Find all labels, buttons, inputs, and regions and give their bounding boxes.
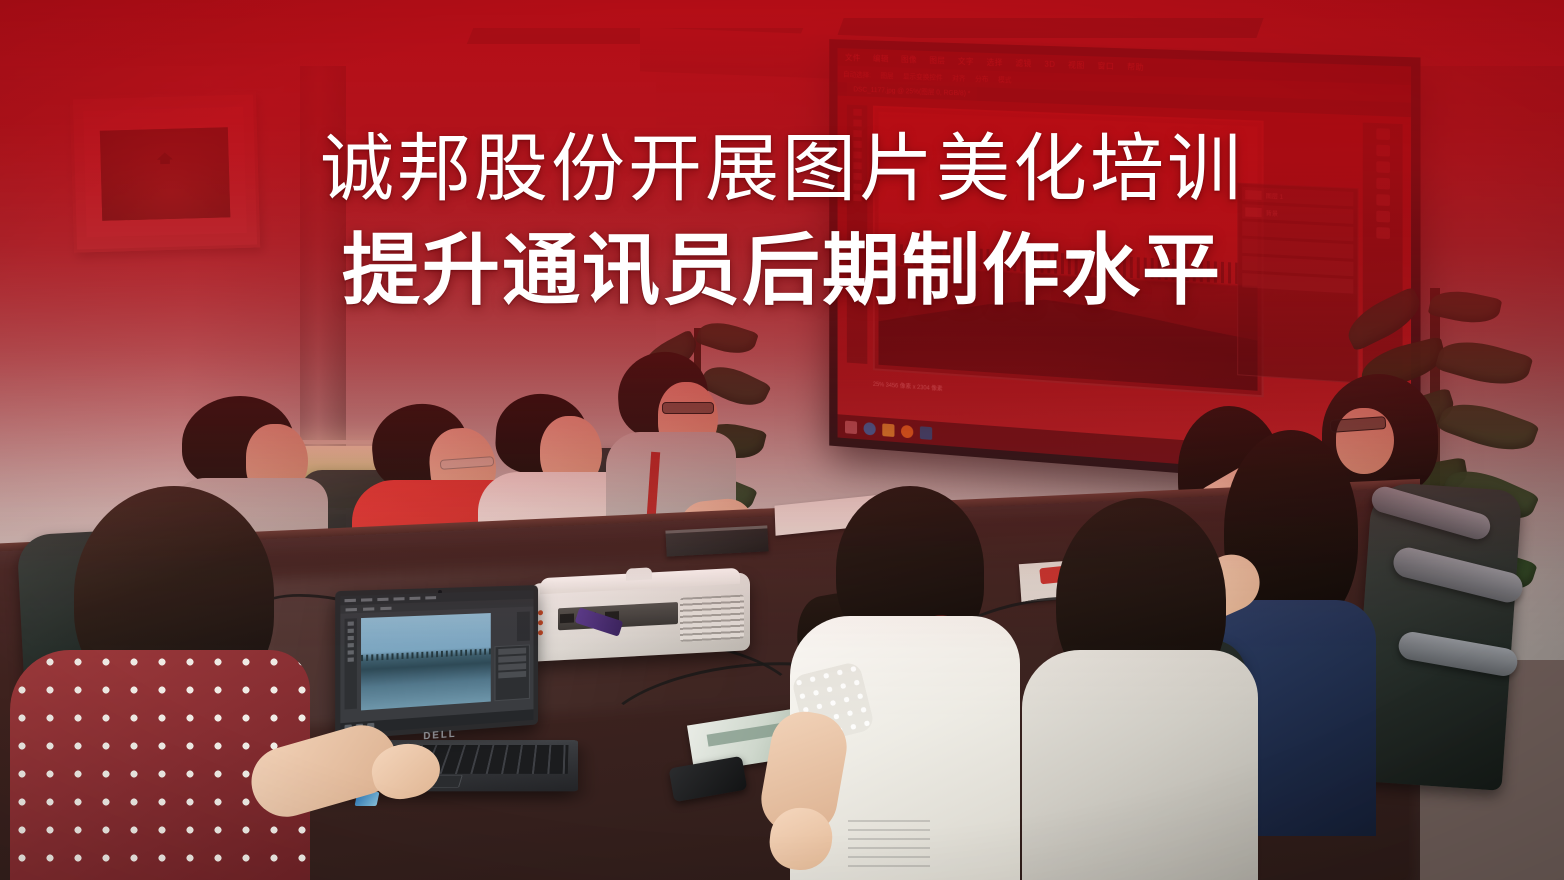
photo-treeline [893, 244, 1242, 284]
properties-panel-icon[interactable] [1376, 194, 1390, 206]
start-icon[interactable] [845, 420, 857, 434]
panel-row [1242, 221, 1353, 241]
gradient-tool-icon[interactable] [853, 173, 861, 180]
layer-row [498, 655, 526, 662]
eraser-tool-icon [348, 650, 354, 654]
wall-picture-frame [70, 91, 260, 252]
notebook [665, 525, 768, 556]
edge-icon[interactable] [864, 422, 876, 436]
browser-icon[interactable] [901, 424, 913, 438]
option-distribute[interactable]: 分布 [975, 74, 988, 84]
option-align[interactable]: 对齐 [952, 73, 965, 83]
menu-item-icon [361, 598, 372, 601]
menu-type[interactable]: 文字 [958, 55, 974, 66]
photoshop-canvas[interactable] [873, 106, 1264, 398]
photoshop-icon[interactable] [920, 426, 932, 440]
projector-vents [680, 595, 744, 642]
laptop-layers-panel [495, 644, 530, 701]
laptop-toolbar [345, 618, 357, 709]
menu-edit[interactable]: 编辑 [873, 53, 889, 64]
taskbar-icons[interactable] [838, 420, 933, 440]
layer-row: 背景 [1242, 204, 1353, 224]
menu-select[interactable]: 选择 [987, 56, 1003, 67]
marquee-tool-icon[interactable] [853, 119, 861, 126]
laptop-screen: DELL [335, 585, 538, 740]
menu-filter[interactable]: 滤镜 [1015, 57, 1031, 68]
laptop-panel-rail [517, 612, 530, 642]
option-icon [380, 606, 391, 609]
menu-file[interactable]: 文件 [845, 52, 861, 63]
zoom-tool-icon[interactable] [853, 194, 861, 201]
menu-item-icon [425, 596, 436, 599]
ceiling-vent-icon [836, 18, 1263, 38]
option-icon [363, 607, 374, 610]
brush-tool-icon[interactable] [853, 151, 861, 158]
menu-window[interactable]: 窗口 [1097, 60, 1114, 72]
channels-panel-icon[interactable] [1376, 211, 1390, 223]
lasso-tool-icon[interactable] [853, 130, 861, 137]
laptop-photoshop-window [340, 590, 533, 735]
laptop-canvas [361, 613, 491, 710]
menu-item-icon [394, 597, 405, 600]
swatches-panel-icon[interactable] [1376, 145, 1390, 157]
file-explorer-icon[interactable] [882, 423, 894, 437]
photoshop-status-bar: 25% 3456 像素 x 2304 像素 [873, 379, 943, 393]
projector [530, 572, 750, 662]
menu-item-icon [409, 597, 420, 600]
option-auto-select[interactable]: 自动选择: [843, 69, 871, 80]
crop-tool-icon[interactable] [853, 141, 861, 148]
banner-image: 文件 编辑 图像 图层 文字 选择 滤镜 3D 视图 窗口 帮助 自动选择: 图… [0, 0, 1564, 880]
layers-panel[interactable]: 图层 1 背景 [1237, 183, 1358, 384]
adjustments-panel-icon[interactable] [1376, 161, 1390, 173]
photo-ridge [879, 269, 1258, 391]
vga-port-icon [560, 613, 574, 623]
option-icon [346, 607, 357, 610]
menu-item-icon [377, 598, 388, 601]
person-woman-grey-top [1022, 650, 1258, 880]
lamp-led-icon [538, 620, 543, 625]
glasses-icon [662, 402, 714, 414]
layer-thumbnail-icon [1245, 207, 1261, 217]
edited-photo [879, 112, 1258, 391]
photoshop-toolbar[interactable] [847, 105, 867, 364]
option-show-transform[interactable]: 显示变换控件 [903, 71, 943, 82]
layer-row [498, 663, 526, 670]
menu-item-icon [345, 599, 356, 602]
power-led-icon [538, 610, 543, 615]
temp-led-icon [538, 630, 543, 635]
layer-row [498, 671, 526, 679]
marquee-tool-icon [348, 629, 354, 633]
menu-help[interactable]: 帮助 [1127, 61, 1144, 73]
menu-image[interactable]: 图像 [901, 54, 917, 65]
color-panel-icon[interactable] [1376, 128, 1390, 140]
layer-row: 图层 1 [1242, 187, 1353, 207]
menu-3d[interactable]: 3D [1044, 59, 1055, 68]
eraser-tool-icon[interactable] [853, 162, 861, 169]
move-tool-icon[interactable] [853, 109, 861, 116]
panel-row [1242, 273, 1353, 294]
layer-thumbnail-icon [1245, 190, 1261, 200]
text-tool-icon[interactable] [853, 183, 861, 190]
move-tool-icon [348, 621, 354, 625]
brush-tool-icon [348, 643, 354, 647]
projector-leds [538, 605, 546, 635]
photo-treeline [361, 648, 491, 661]
menu-view[interactable]: 视图 [1068, 59, 1085, 71]
menu-layer[interactable]: 图层 [929, 54, 945, 65]
option-layer[interactable]: 图层 [880, 70, 893, 80]
pagoda-shape-icon [157, 152, 173, 164]
layer-row [498, 648, 526, 655]
paths-panel-icon[interactable] [1376, 227, 1390, 239]
projector-focus-knob[interactable] [626, 567, 652, 580]
history-panel-icon[interactable] [1376, 178, 1390, 190]
option-mode[interactable]: 模式 [998, 74, 1011, 84]
blouse-print [848, 820, 930, 872]
zoom-tool-icon [348, 657, 354, 661]
panel-row [1242, 239, 1353, 259]
layer-name: 背景 [1266, 208, 1278, 218]
lasso-tool-icon [348, 636, 354, 640]
picture-image [100, 127, 230, 221]
layer-name: 图层 1 [1266, 190, 1283, 200]
